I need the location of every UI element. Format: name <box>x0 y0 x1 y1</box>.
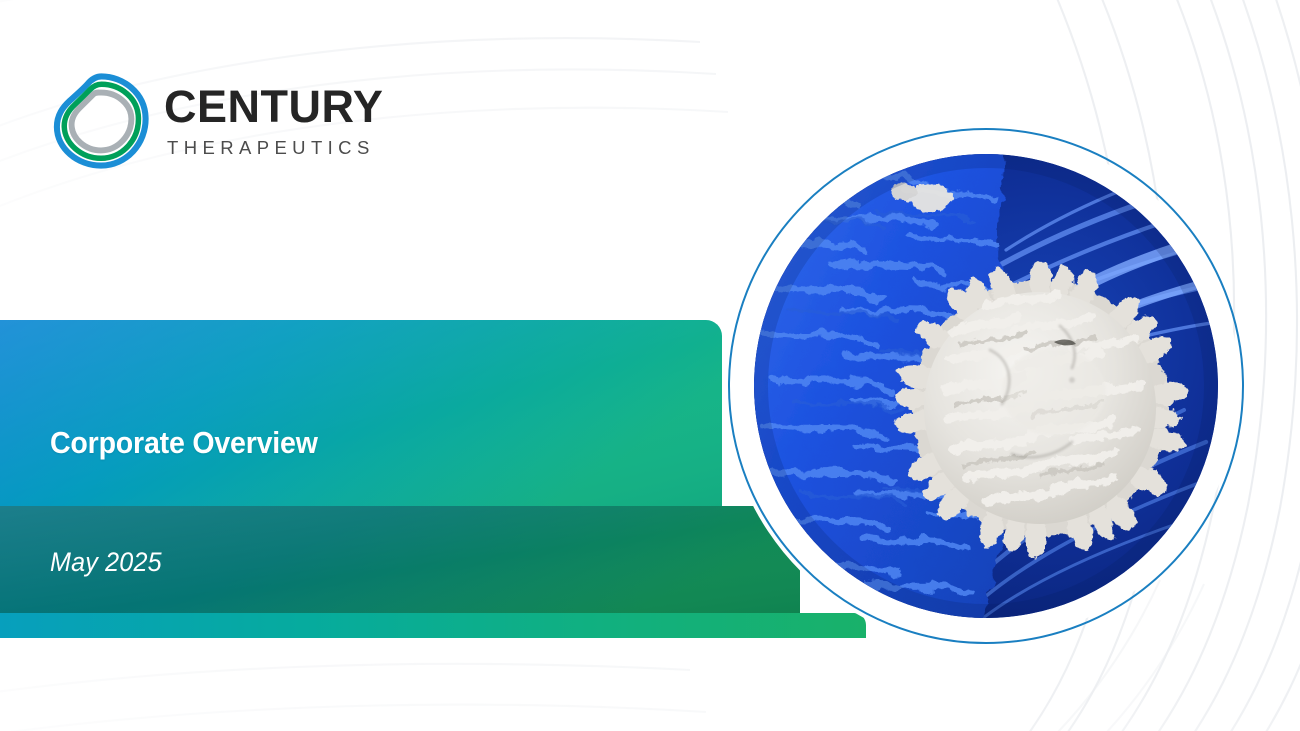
company-logo: CENTURY THERAPEUTICS <box>52 72 383 170</box>
slide-date: May 2025 <box>50 547 162 578</box>
slide-title: Corporate Overview <box>50 425 318 461</box>
logo-wordmark: CENTURY THERAPEUTICS <box>164 84 383 158</box>
century-logo-mark <box>52 72 150 170</box>
logo-company-name: CENTURY <box>164 84 383 129</box>
logo-tagline: THERAPEUTICS <box>167 139 383 158</box>
presentation-slide: CENTURY THERAPEUTICS Corporate Overview … <box>0 0 1300 731</box>
hero-image-container <box>728 128 1244 644</box>
cell-microscopy-image <box>754 154 1218 618</box>
